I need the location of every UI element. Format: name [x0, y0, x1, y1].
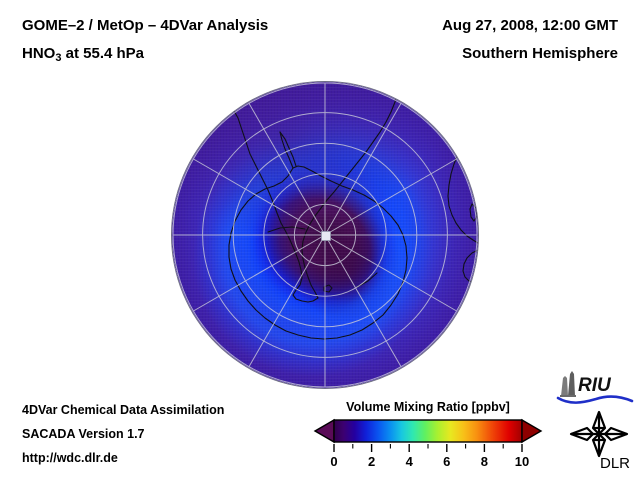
riu-wave-icon	[558, 397, 632, 403]
colorbar-title: Volume Mixing Ratio [ppbv]	[312, 400, 544, 414]
page-title: GOME–2 / MetOp – 4DVar Analysis	[22, 17, 268, 34]
datetime-label: Aug 27, 2008, 12:00 GMT	[442, 17, 618, 34]
riu-logo-text: RIU	[578, 375, 612, 396]
footer-line-url[interactable]: http://wdc.dlr.de	[22, 451, 118, 465]
colorbar-tick-label: 8	[481, 454, 488, 469]
species-formula-subscript: 3	[55, 52, 61, 64]
dlr-pinwheel-icon	[571, 412, 627, 456]
polar-map-plot	[172, 82, 478, 388]
colorbar-ticks	[312, 444, 544, 454]
footer-line-version: SACADA Version 1.7	[22, 427, 145, 441]
colorbar-tick-label: 6	[443, 454, 450, 469]
footer-line-assimilation: 4DVar Chemical Data Assimilation	[22, 403, 224, 417]
riu-tower-icon	[560, 371, 576, 397]
dlr-logo: DLR	[566, 408, 632, 470]
colorbar-axis: 0 2 4 6 8 10	[312, 444, 544, 472]
south-pole-marker	[321, 231, 331, 241]
globe-disc	[172, 82, 478, 388]
hemisphere-label: Southern Hemisphere	[462, 45, 618, 62]
colorbar-tick-label: 0	[330, 454, 337, 469]
colorbar-tick-label: 4	[406, 454, 413, 469]
colorbar-tick-label: 2	[368, 454, 375, 469]
colorbar: Volume Mixing Ratio [ppbv]	[312, 400, 544, 472]
dlr-logo-text: DLR	[600, 455, 630, 470]
figure-root: GOME–2 / MetOp – 4DVar Analysis HNO3 at …	[0, 0, 640, 480]
species-formula-prefix: HNO	[22, 45, 55, 62]
riu-logo: RIU	[556, 370, 634, 404]
colorbar-gradient	[312, 418, 544, 444]
species-level-label: HNO3 at 55.4 hPa	[22, 45, 144, 62]
colorbar-tick-label: 10	[515, 454, 529, 469]
species-level-suffix: at 55.4 hPa	[61, 45, 144, 62]
